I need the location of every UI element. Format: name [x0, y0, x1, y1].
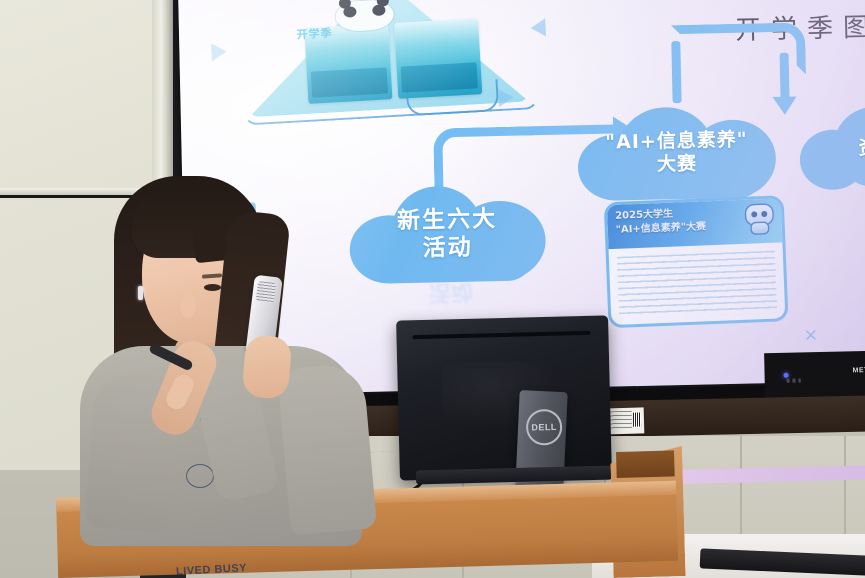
robot-head	[746, 205, 773, 225]
arrow-head-c	[773, 96, 797, 115]
podium-inner-shadow	[616, 450, 675, 478]
slide-top-banner: 竺 莘	[582, 0, 688, 6]
triangle-arrow-right	[530, 18, 546, 37]
dell-monitor: DELL	[396, 315, 612, 480]
sweatshirt-doodle	[186, 464, 214, 488]
arrow-shaft-c	[780, 53, 790, 101]
robot-body	[752, 223, 768, 234]
cloud-a-line1: 新生六大	[397, 206, 498, 234]
panda-ear-left	[339, 0, 352, 9]
classroom-photo: 竺 莘 开学季图 开学季	[0, 0, 865, 578]
cloud-ai-literacy-contest: "AI+信息素养" 大赛	[577, 105, 777, 201]
power-led-icon	[784, 373, 789, 378]
cloud-c-label: 资料	[832, 137, 865, 162]
triangle-arrow-left	[211, 42, 227, 61]
earring	[138, 286, 143, 300]
cloud-resources: 资料	[799, 106, 865, 193]
eyebrow-left	[202, 273, 222, 278]
cloud-a-reflection: 活动	[390, 277, 511, 312]
eye-left	[204, 284, 221, 291]
robot-mascot-icon	[743, 203, 776, 236]
presenter: LIVED BUSY	[96, 168, 348, 528]
cloud-b-line2: 大赛	[657, 153, 697, 176]
panda-ear-right	[377, 0, 390, 7]
display-brand-label: METIS	[853, 367, 865, 375]
triangle-poster-group: 开学季	[242, 0, 529, 117]
triangle-poster-word: 开学季	[296, 24, 333, 42]
close-icon: ✕	[804, 326, 819, 346]
cloud-a-label: 新生六大 活动	[397, 205, 498, 263]
poster-title: 2025大学生 "AI+信息素养"大赛	[615, 205, 748, 237]
display-button-row[interactable]	[787, 378, 801, 382]
hand-holding-microphone	[241, 334, 292, 400]
cloud-a-line2: 活动	[422, 235, 473, 262]
poster-title-line2: "AI+信息素养"大赛	[616, 221, 707, 236]
poster-title-line1: 2025大学生	[615, 209, 673, 222]
cloud-b-line1: "AI+信息素养"	[605, 128, 748, 153]
cloud-new-student-activities: 新生六大 活动	[348, 184, 546, 284]
sleeve-right	[277, 363, 377, 536]
poster-body-text	[617, 251, 777, 319]
barcode-icon	[633, 413, 641, 427]
cloud-b-label: "AI+信息素养" 大赛	[605, 128, 748, 177]
dell-logo: DELL	[526, 409, 563, 446]
contest-poster-thumbnail: 2025大学生 "AI+信息素养"大赛	[604, 195, 789, 328]
microphone-grille	[256, 281, 276, 303]
ear	[180, 292, 196, 318]
triangle-card-right	[394, 18, 482, 99]
triangle-arrow-bottom	[498, 88, 514, 107]
